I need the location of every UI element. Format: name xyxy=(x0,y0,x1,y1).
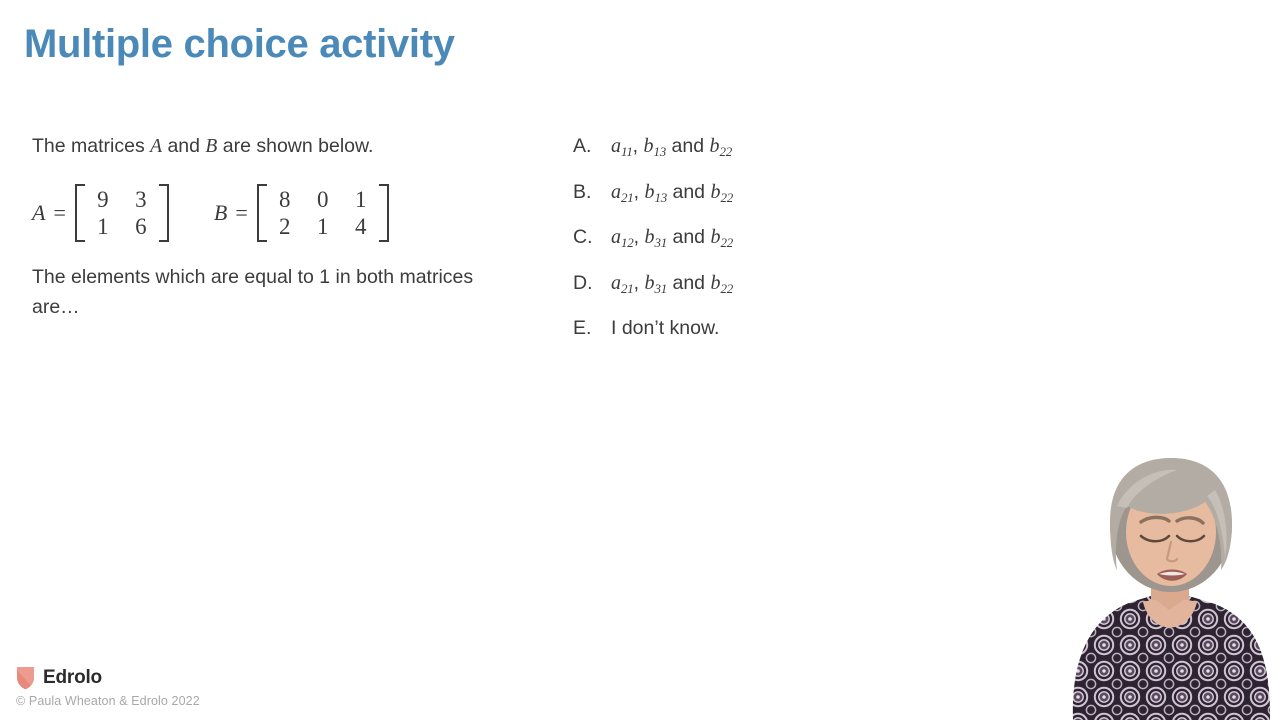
shield-icon xyxy=(16,666,35,690)
option-separator: , xyxy=(634,272,645,294)
matrix-a-cell-22: 6 xyxy=(122,213,160,240)
answer-option-e[interactable]: E.I don’t know. xyxy=(573,317,993,363)
answer-option-d[interactable]: D.a21, b31 and b22 xyxy=(573,272,993,318)
page-title: Multiple choice activity xyxy=(24,21,455,67)
copyright-text: © Paula Wheaton & Edrolo 2022 xyxy=(16,694,200,708)
brand-name: Edrolo xyxy=(43,667,102,689)
math-subscript: 22 xyxy=(720,190,733,205)
math-subscript: 21 xyxy=(621,281,634,296)
bracket-right-icon xyxy=(159,184,169,242)
option-text: a12, b31 and b22 xyxy=(611,226,733,249)
matrix-a-name: A xyxy=(32,200,45,226)
math-subscript: 22 xyxy=(720,235,733,250)
math-subscript: 13 xyxy=(653,144,666,159)
math-variable: b xyxy=(644,272,654,294)
math-variable: b xyxy=(644,181,654,203)
question-intro-line: The matrices A and B are shown below. xyxy=(32,131,532,162)
math-subscript: 21 xyxy=(621,190,634,205)
matrix-a-cell-11: 9 xyxy=(84,186,122,213)
matrix-b-cell-23: 4 xyxy=(342,213,380,240)
matrix-b-name: B xyxy=(214,200,227,226)
question-prompt: The elements which are equal to 1 in bot… xyxy=(32,262,477,322)
math-variable: b xyxy=(709,135,719,157)
option-letter: B. xyxy=(573,181,611,204)
bracket-left-icon xyxy=(75,184,85,242)
option-separator: , xyxy=(634,181,645,203)
question-intro-mid: and xyxy=(162,135,205,157)
math-subscript: 11 xyxy=(621,144,633,159)
matrix-b-equals: = xyxy=(235,200,247,226)
math-variable: a xyxy=(611,272,621,294)
matrix-a: A = 9 3 1 6 xyxy=(32,184,169,242)
matrix-b-brackets: 8 0 1 2 1 4 xyxy=(257,184,389,242)
bracket-right-icon xyxy=(379,184,389,242)
answer-option-c[interactable]: C.a12, b31 and b22 xyxy=(573,226,993,272)
math-subscript: 31 xyxy=(654,281,667,296)
math-subscript: 22 xyxy=(720,281,733,296)
math-subscript: 31 xyxy=(654,235,667,250)
math-variable: b xyxy=(710,181,720,203)
question-stem: The matrices A and B are shown below. A … xyxy=(32,131,532,323)
matrix-b-cell-22: 1 xyxy=(304,213,342,240)
matrices-row: A = 9 3 1 6 xyxy=(32,182,532,244)
question-intro-post: are shown below. xyxy=(217,135,373,157)
option-plain-text: I don’t know. xyxy=(611,317,719,339)
brand-row: Edrolo xyxy=(16,665,200,691)
table-row: 2 1 4 xyxy=(266,213,380,240)
matrix-a-cell-21: 1 xyxy=(84,213,122,240)
option-text: a21, b13 and b22 xyxy=(611,181,733,204)
option-separator: , xyxy=(634,226,645,248)
slide-canvas: Multiple choice activity The matrices A … xyxy=(0,0,1280,720)
matrix-a-equals: = xyxy=(53,200,65,226)
matrix-b-cell-13: 1 xyxy=(342,186,380,213)
option-separator: and xyxy=(667,272,710,294)
option-letter: D. xyxy=(573,272,611,295)
option-letter: C. xyxy=(573,226,611,249)
answer-options-list: A.a11, b13 and b22B.a21, b13 and b22C.a1… xyxy=(573,135,993,363)
matrix-b-cell-21: 2 xyxy=(266,213,304,240)
matrix-b-cell-11: 8 xyxy=(266,186,304,213)
matrix-a-cell-12: 3 xyxy=(122,186,160,213)
option-text: I don’t know. xyxy=(611,317,719,340)
presenter-video xyxy=(1065,450,1280,720)
matrix-a-label: A xyxy=(150,136,162,157)
math-subscript: 13 xyxy=(654,190,667,205)
math-variable: a xyxy=(611,226,621,248)
matrix-b: B = 8 0 1 2 1 4 xyxy=(214,184,389,242)
option-separator: and xyxy=(666,135,709,157)
matrix-b-label: B xyxy=(205,136,217,157)
table-row: 9 3 xyxy=(84,186,160,213)
matrix-b-table: 8 0 1 2 1 4 xyxy=(266,186,380,240)
option-separator: , xyxy=(633,135,644,157)
option-text: a21, b31 and b22 xyxy=(611,272,733,295)
option-letter: E. xyxy=(573,317,611,340)
matrix-b-cell-12: 0 xyxy=(304,186,342,213)
bracket-left-icon xyxy=(257,184,267,242)
math-variable: b xyxy=(644,226,654,248)
table-row: 8 0 1 xyxy=(266,186,380,213)
option-letter: A. xyxy=(573,135,611,158)
table-row: 1 6 xyxy=(84,213,160,240)
math-variable: b xyxy=(710,272,720,294)
option-text: a11, b13 and b22 xyxy=(611,135,732,158)
math-subscript: 22 xyxy=(719,144,732,159)
math-variable: b xyxy=(643,135,653,157)
math-variable: b xyxy=(710,226,720,248)
footer: Edrolo © Paula Wheaton & Edrolo 2022 xyxy=(16,665,200,708)
answer-option-a[interactable]: A.a11, b13 and b22 xyxy=(573,135,993,181)
math-variable: a xyxy=(611,181,621,203)
matrix-a-table: 9 3 1 6 xyxy=(84,186,160,240)
answer-option-b[interactable]: B.a21, b13 and b22 xyxy=(573,181,993,227)
option-separator: and xyxy=(667,226,710,248)
math-variable: a xyxy=(611,135,621,157)
math-subscript: 12 xyxy=(621,235,634,250)
matrix-a-brackets: 9 3 1 6 xyxy=(75,184,169,242)
question-intro-pre: The matrices xyxy=(32,135,150,157)
option-separator: and xyxy=(667,181,710,203)
